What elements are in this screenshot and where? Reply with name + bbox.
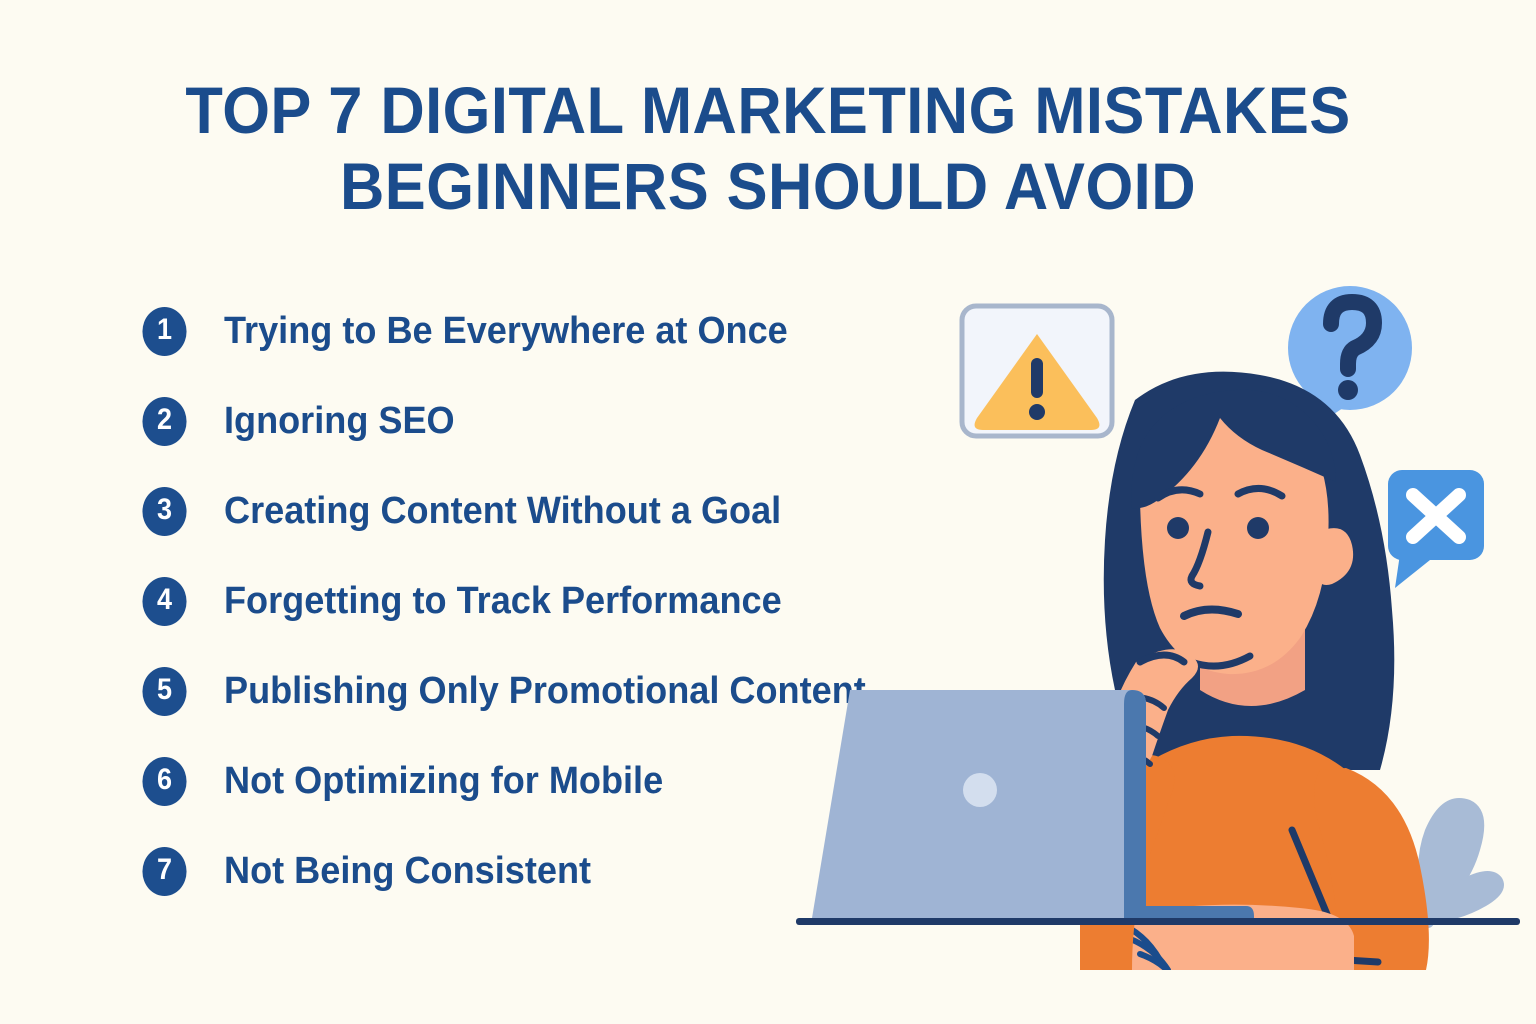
warning-card (962, 306, 1112, 436)
list-number-badge: 1 (142, 307, 186, 356)
title-line-1: TOP 7 DIGITAL MARKETING MISTAKES (143, 72, 1393, 148)
page-title: TOP 7 DIGITAL MARKETING MISTAKES BEGINNE… (96, 72, 1440, 224)
list-number-badge: 6 (142, 757, 186, 806)
list-number-badge: 5 (142, 667, 186, 716)
list-item-label: Ignoring SEO (224, 399, 455, 443)
list-item-label: Creating Content Without a Goal (224, 489, 781, 533)
list-item-label: Forgetting to Track Performance (224, 579, 782, 623)
title-line-2: BEGINNERS SHOULD AVOID (143, 148, 1393, 224)
list-number-badge: 2 (142, 397, 186, 446)
list-item-label: Trying to Be Everywhere at Once (224, 309, 788, 353)
infographic-canvas: TOP 7 DIGITAL MARKETING MISTAKES BEGINNE… (0, 0, 1536, 1024)
eye-right (1247, 517, 1269, 539)
list-item-label: Not Being Consistent (224, 849, 591, 893)
list-number-badge: 3 (142, 487, 186, 536)
illustration-group (780, 270, 1536, 970)
list-number-badge: 7 (142, 847, 186, 896)
list-item-label: Publishing Only Promotional Content (224, 669, 866, 713)
laptop-logo-icon (963, 773, 997, 807)
cross-speech-bubble-icon (1388, 470, 1484, 588)
list-item-label: Not Optimizing for Mobile (224, 759, 663, 803)
eye-left (1167, 517, 1189, 539)
list-number-badge: 4 (142, 577, 186, 626)
leaf-icon (1418, 798, 1504, 922)
desk-line (796, 918, 1520, 925)
